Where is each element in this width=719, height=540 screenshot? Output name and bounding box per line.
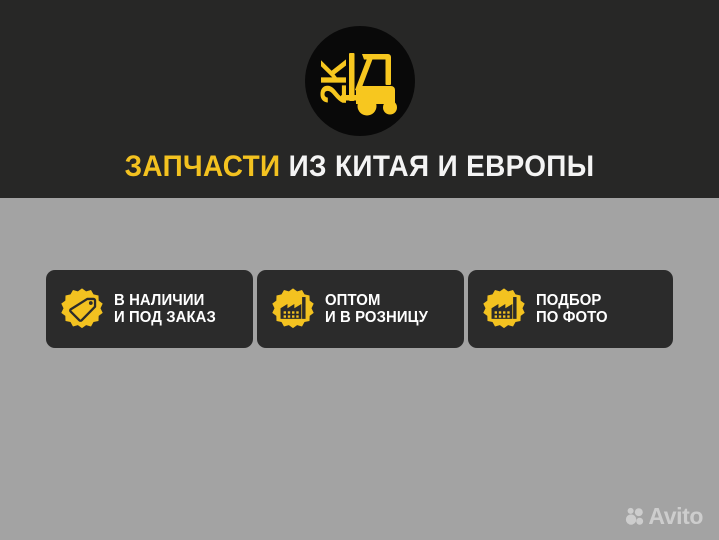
feature-card-line1: В НАЛИЧИИ — [114, 292, 204, 309]
feature-card-line2: И В РОЗНИЦУ — [325, 309, 428, 327]
avito-wordmark: Avito — [648, 505, 703, 528]
avito-watermark: Avito — [625, 505, 703, 528]
feature-card-label: ОПТОМ И В РОЗНИЦУ — [325, 292, 428, 327]
feature-card-label: ПОДБОР ПО ФОТО — [536, 292, 608, 327]
feature-card-line1: ОПТОМ — [325, 292, 380, 309]
feature-card-wholesale-retail[interactable]: ОПТОМ И В РОЗНИЦУ — [257, 270, 464, 348]
headline-plain: ИЗ КИТАЯ И ЕВРОПЫ — [289, 150, 595, 183]
gear-price-tag-icon — [59, 286, 105, 332]
header-banner: 2K ЗАПЧА — [0, 0, 719, 198]
feature-card-line2: И ПОД ЗАКАЗ — [114, 309, 216, 327]
page-title: ЗАПЧАСТИ ИЗ КИТАЯ И ЕВРОПЫ — [25, 150, 694, 184]
feature-card-photo-search[interactable]: ПОДБОР ПО ФОТО — [468, 270, 673, 348]
listing-image: 2K ЗАПЧА — [0, 0, 719, 540]
gear-factory-icon — [481, 286, 527, 332]
headline-accent: ЗАПЧАСТИ — [125, 150, 281, 183]
avito-dots-icon — [625, 507, 644, 526]
feature-card-line1: ПОДБОР — [536, 292, 601, 309]
logo-badge: 2K — [305, 26, 415, 136]
feature-card-in-stock[interactable]: В НАЛИЧИИ И ПОД ЗАКАЗ — [46, 270, 253, 348]
forklift-icon — [341, 53, 397, 116]
gear-factory-icon — [270, 286, 316, 332]
logo-mark-svg: 2K — [305, 26, 415, 136]
feature-card-line2: ПО ФОТО — [536, 309, 608, 327]
feature-card-list: В НАЛИЧИИ И ПОД ЗАКАЗ — [46, 270, 673, 348]
feature-card-label: В НАЛИЧИИ И ПОД ЗАКАЗ — [114, 292, 216, 327]
